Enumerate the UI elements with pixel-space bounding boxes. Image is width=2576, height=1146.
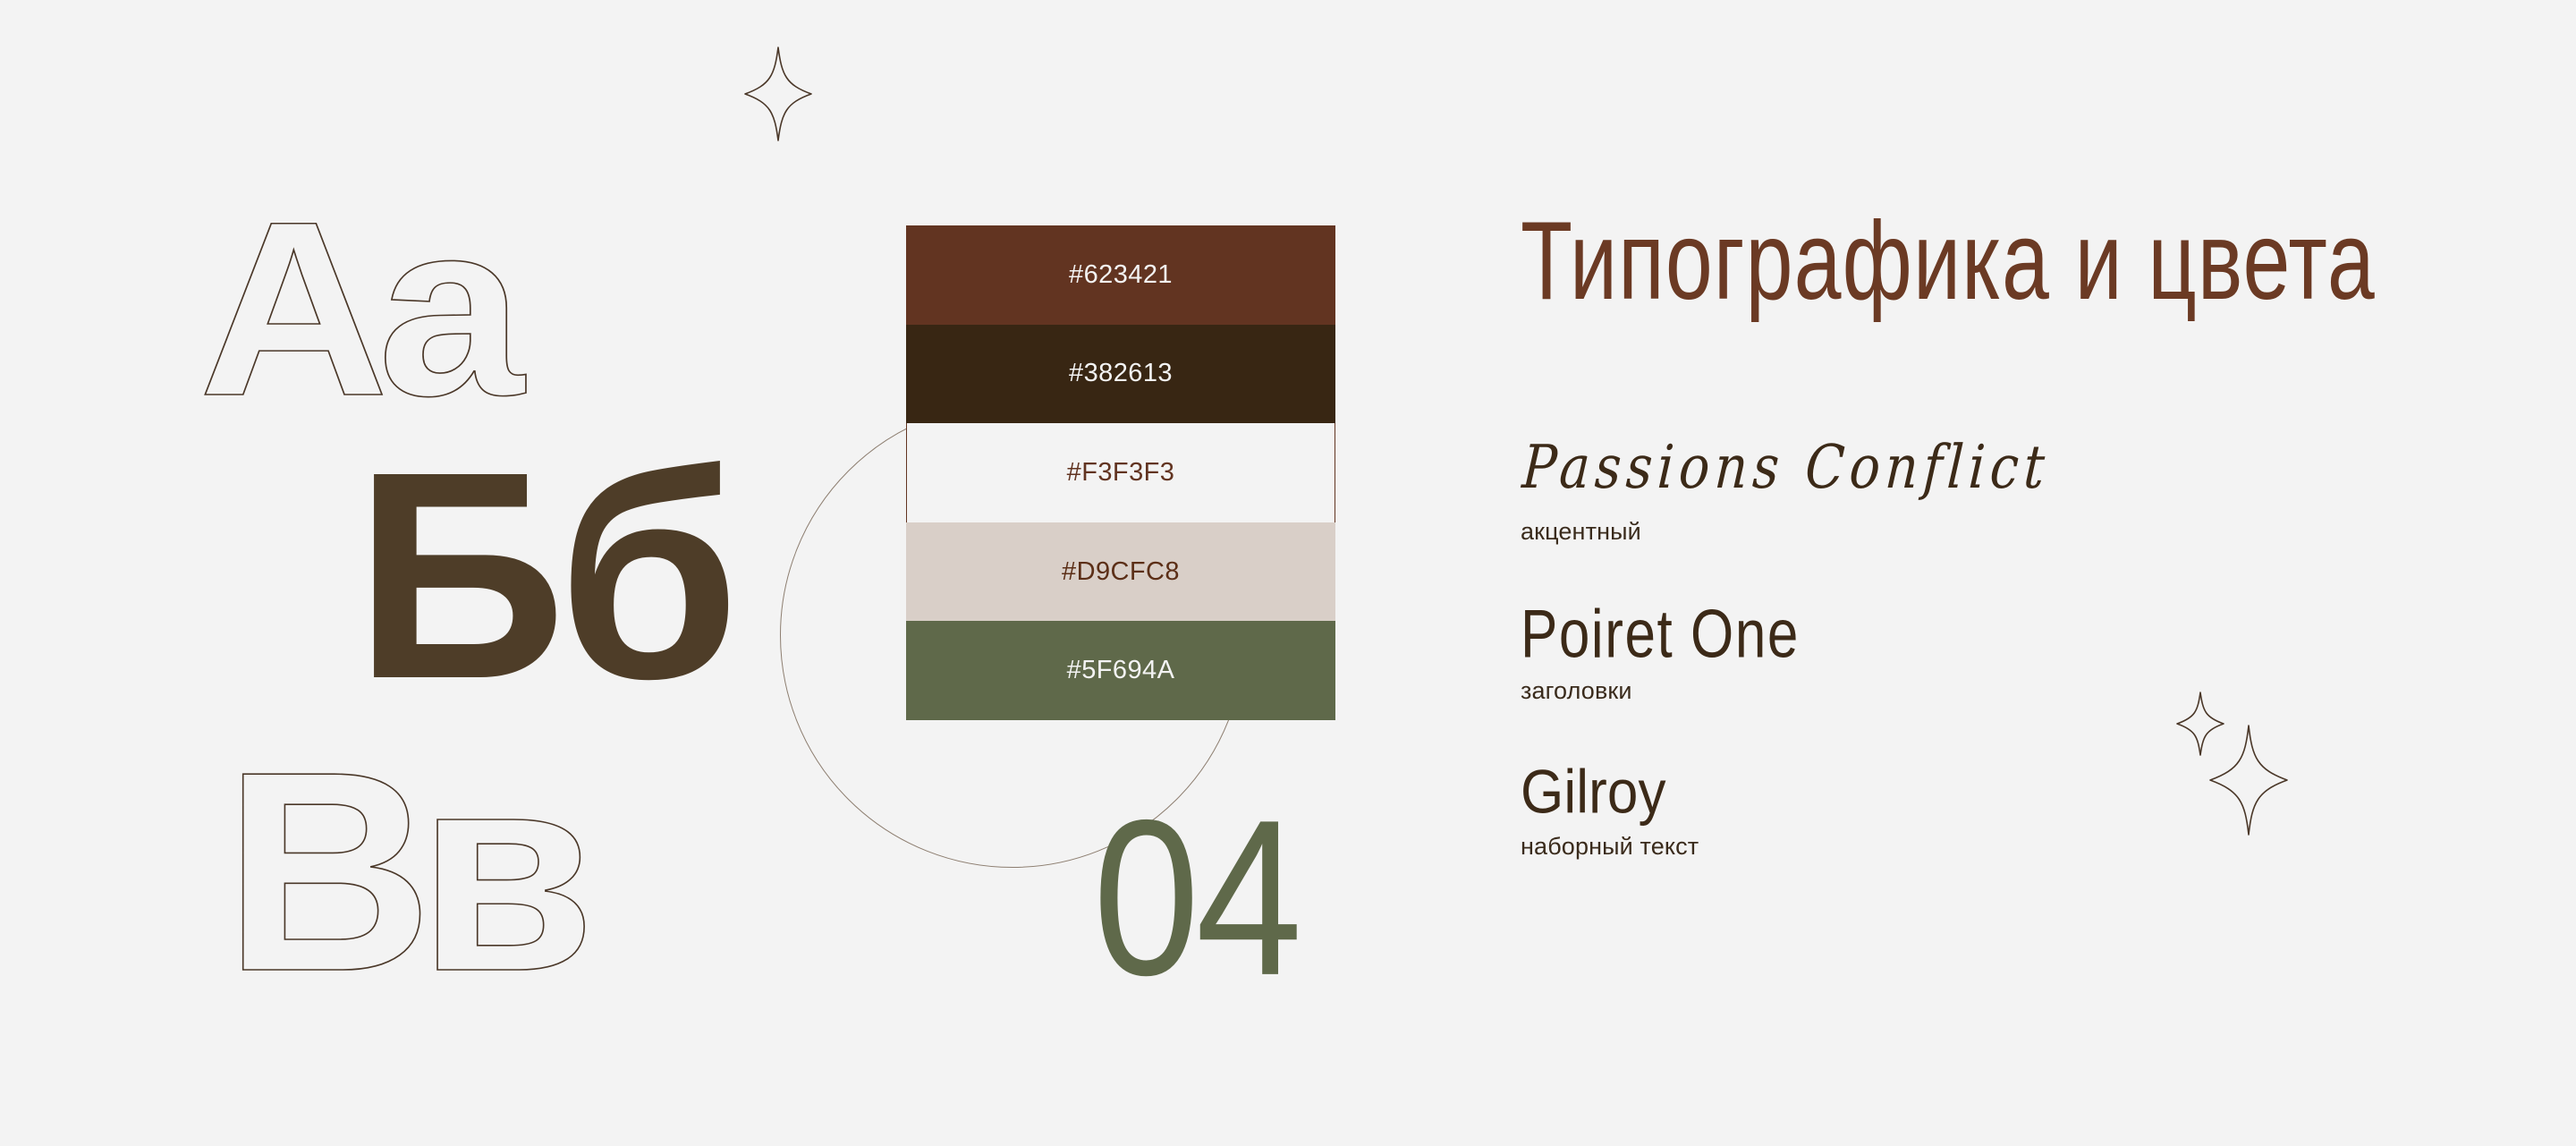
color-swatch-d9cfc8[interactable]: #D9CFC8	[906, 522, 1335, 622]
typeface-block-accent: Passions Conflict акцентный	[1521, 440, 2093, 546]
typeface-role-heading: заголовки	[1521, 677, 1800, 705]
typeface-name-body: Gilroy	[1521, 760, 1699, 825]
letterform-specimen-aa: Аа	[199, 184, 510, 433]
slide-number: 04	[1093, 787, 1299, 1009]
color-swatch-382613[interactable]: #382613	[906, 325, 1335, 424]
color-palette-stack: #623421 #382613 #F3F3F3 #D9CFC8 #5F694A	[906, 225, 1335, 720]
color-swatch-label: #D9CFC8	[1062, 557, 1180, 587]
style-guide-board: Аа Бб Вв #623421 #382613 #F3F3F3 #D9CFC8…	[0, 0, 2576, 1146]
letterform-specimen-bb: Бб	[354, 428, 731, 723]
typeface-name-accent: Passions Conflict	[1521, 436, 2051, 498]
color-swatch-label: #5F694A	[1067, 656, 1175, 685]
typeface-name-heading: Poiret One	[1521, 599, 1800, 670]
color-swatch-label: #623421	[1069, 260, 1173, 290]
sparkle-icon	[2207, 723, 2290, 837]
color-swatch-f3f3f3[interactable]: #F3F3F3	[906, 423, 1335, 522]
typeface-role-accent: акцентный	[1521, 518, 2093, 546]
color-swatch-label: #F3F3F3	[1067, 458, 1175, 488]
color-swatch-623421[interactable]: #623421	[906, 225, 1335, 325]
typeface-block-heading: Poiret One заголовки	[1521, 599, 1800, 705]
letterform-specimen-vv: Вв	[224, 730, 580, 1014]
typeface-role-body: наборный текст	[1521, 833, 1699, 861]
typeface-block-body: Gilroy наборный текст	[1521, 760, 1699, 861]
color-swatch-5f694a[interactable]: #5F694A	[906, 621, 1335, 720]
sparkle-icon	[742, 45, 814, 143]
color-swatch-label: #382613	[1069, 359, 1173, 388]
page-title: Типографика и цвета	[1521, 206, 2459, 318]
typography-column: Типографика и цвета Passions Conflict ак…	[1521, 206, 2469, 292]
